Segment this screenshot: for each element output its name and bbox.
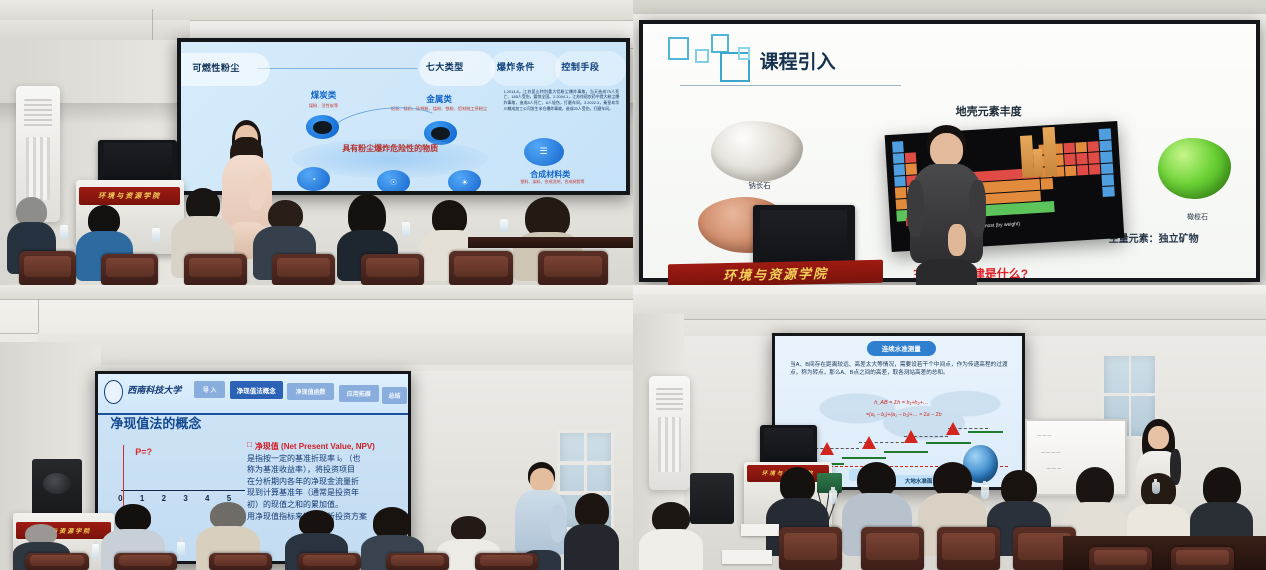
- slide4-title-pill: 连续水准测量: [867, 341, 936, 356]
- water-bottle: [60, 225, 68, 239]
- rock-label-albite: 钠长石: [723, 180, 796, 191]
- presenter-male: [908, 125, 984, 285]
- slide3-tab-concept[interactable]: 净现值法概念: [230, 381, 283, 399]
- whiteboard-ink: — — —: [1047, 465, 1061, 470]
- slide1-category-forest: 林产品类: [279, 190, 355, 192]
- slide1-category-metal: 金属类: [395, 93, 484, 105]
- lectern-banner: 环境与资源学院: [79, 187, 180, 206]
- water-bottle: [500, 219, 508, 232]
- periodic-table-caption: most (by weight): [983, 221, 1020, 229]
- water-bottle: [1152, 482, 1160, 495]
- slide2-heading: 地壳元素丰度: [956, 103, 1022, 119]
- abundance-bar-al: [1033, 149, 1044, 178]
- water-bottle: [402, 222, 410, 236]
- chair: [25, 553, 88, 570]
- whiteboard-ink: — — —: [1037, 432, 1051, 437]
- chair: [272, 254, 335, 285]
- water-bottle: [177, 542, 185, 556]
- panel-npv-lecture: 西南科技大学 导 入 净现值法概念 净现值函数 应用拓展 总结 净现值法的概念 …: [0, 285, 633, 570]
- water-bottle: [152, 228, 160, 242]
- podium-monitor: [98, 140, 177, 186]
- slide2-right-note: 主量元素：独立矿物: [1109, 230, 1256, 245]
- slide1-category-coal: 煤炭类: [279, 89, 368, 101]
- chair: [101, 254, 158, 285]
- slide3-tab-summary[interactable]: 总结: [382, 387, 407, 404]
- chair: [19, 251, 76, 285]
- lectern-banner: 环境与资源学院: [668, 260, 883, 285]
- slide1-tab-controls[interactable]: 控制手段: [561, 60, 599, 73]
- timeline-tick: 2: [162, 494, 166, 503]
- slide3-line: 是指按一定的基准折现率 i₀ （也: [247, 453, 408, 465]
- lectern-banner-text: 环境与资源学院: [723, 263, 828, 284]
- chair: [937, 527, 1000, 570]
- slide1-tab-conditions[interactable]: 爆炸条件: [497, 60, 535, 73]
- slide1-category-coal-sub: 煤粉、活性炭等: [275, 103, 373, 108]
- photo-grid: 可燃性粉尘 七大类型 爆炸条件 控制手段 煤炭类 煤粉、活性炭等 金属类 铝粉、…: [0, 0, 1266, 570]
- chair: [538, 251, 608, 285]
- rock-specimen-albite: [711, 121, 803, 182]
- slide3-tab-application[interactable]: 应用拓展: [339, 385, 379, 402]
- water-bottle: [829, 490, 837, 504]
- slide1-icon-composite: ☰: [524, 138, 564, 166]
- university-name: 西南科技大学: [127, 383, 181, 396]
- timeline-axis: [121, 490, 245, 491]
- slide1-news-block: 1.2014.8，江苏昆山特别重大铝粉尘爆炸事故，当天造成75人死亡、185人受…: [504, 89, 620, 112]
- slide1-center-text: 具有粉尘爆炸危险性的物质: [315, 144, 466, 154]
- panel-geology-lecture: 课程引入 地壳元素丰度 钠长石 橄榄石 主量元素：独立矿物: [633, 0, 1266, 285]
- slide3-heading: 净现值法的概念: [110, 413, 201, 432]
- handout-paper: [741, 524, 779, 535]
- timeline-tick: 0: [118, 494, 122, 503]
- water-bottle: [92, 544, 100, 558]
- slide1-icon-grain: ☉: [377, 170, 410, 191]
- slide3-tab-function[interactable]: 净现值函数: [287, 383, 334, 400]
- audience-member: [639, 502, 702, 570]
- timeline-tick: 1: [140, 494, 144, 503]
- timeline-p-label: P=?: [135, 447, 152, 457]
- chair: [1089, 547, 1152, 570]
- slide2-title: 课程引入: [760, 47, 836, 74]
- chair: [1171, 547, 1234, 570]
- chair: [184, 254, 247, 285]
- chair: [779, 527, 842, 570]
- slide1-tab-types[interactable]: 七大类型: [426, 60, 464, 73]
- slide3-tab-intro[interactable]: 导 入: [194, 381, 225, 398]
- slide1-icon-agricultural: ☀: [448, 170, 481, 191]
- timeline-up-arrow: [123, 445, 124, 490]
- rock-label-olivine: 橄榄石: [1164, 212, 1231, 222]
- slide4-body: 当A、B间存在距离较远、高差太大等情况，需要设若干个中间点，作为传递高程的过渡点…: [790, 361, 1008, 377]
- lectern-banner-text: 环境与资源学院: [98, 191, 161, 201]
- slide1-category-composite-sub: 塑料、染料、合成洗剂、合成树脂等: [497, 179, 608, 184]
- slide4-formula-line-1: h_AB = Σh = h₁+h₂+…: [844, 400, 958, 406]
- chair: [449, 251, 512, 285]
- audience-member: [563, 493, 620, 570]
- slide3-line: 称为基准收益率），将投资项目: [247, 464, 408, 476]
- whiteboard-ink: — — — —: [1041, 449, 1060, 454]
- chair: [209, 553, 272, 570]
- slide3-bullet-title: 净现值 (Net Present Value, NPV): [255, 441, 375, 453]
- slide1-title: 可燃性粉尘: [192, 61, 240, 74]
- chair: [475, 553, 538, 570]
- chair: [386, 553, 449, 570]
- chair: [298, 553, 361, 570]
- bullet-square-icon: □: [247, 441, 252, 449]
- panel-dust-explosion-lecture: 可燃性粉尘 七大类型 爆炸条件 控制手段 煤炭类 煤粉、活性炭等 金属类 铝粉、…: [0, 0, 633, 285]
- front-desk: [468, 237, 633, 248]
- slide1-icon-forest: ◔: [297, 167, 330, 191]
- chair: [361, 254, 424, 285]
- slide4-title: 连续水准测量: [882, 343, 921, 353]
- handout-paper: [722, 550, 773, 564]
- university-logo: [104, 380, 123, 404]
- timeline-tick: 3: [183, 494, 187, 503]
- panel-leveling-survey-lecture: 连续水准测量 当A、B间存在距离较远、高差太大等情况，需要设若干个中间点，作为传…: [633, 285, 1266, 570]
- slide3-line: 在分析期内各年的净现金流量折: [247, 476, 408, 488]
- slide3-line: 现到计算基准年（通常是投资年: [247, 487, 408, 499]
- rock-specimen-olivine: [1158, 138, 1231, 199]
- chair: [114, 553, 177, 570]
- chair: [861, 527, 924, 570]
- air-conditioner: [649, 376, 690, 490]
- slide4-formula-line-2: =(a₁ − b₁)+(a₂ − b₂)+… = Σa − Σb: [840, 412, 969, 418]
- water-bottle: [981, 485, 989, 499]
